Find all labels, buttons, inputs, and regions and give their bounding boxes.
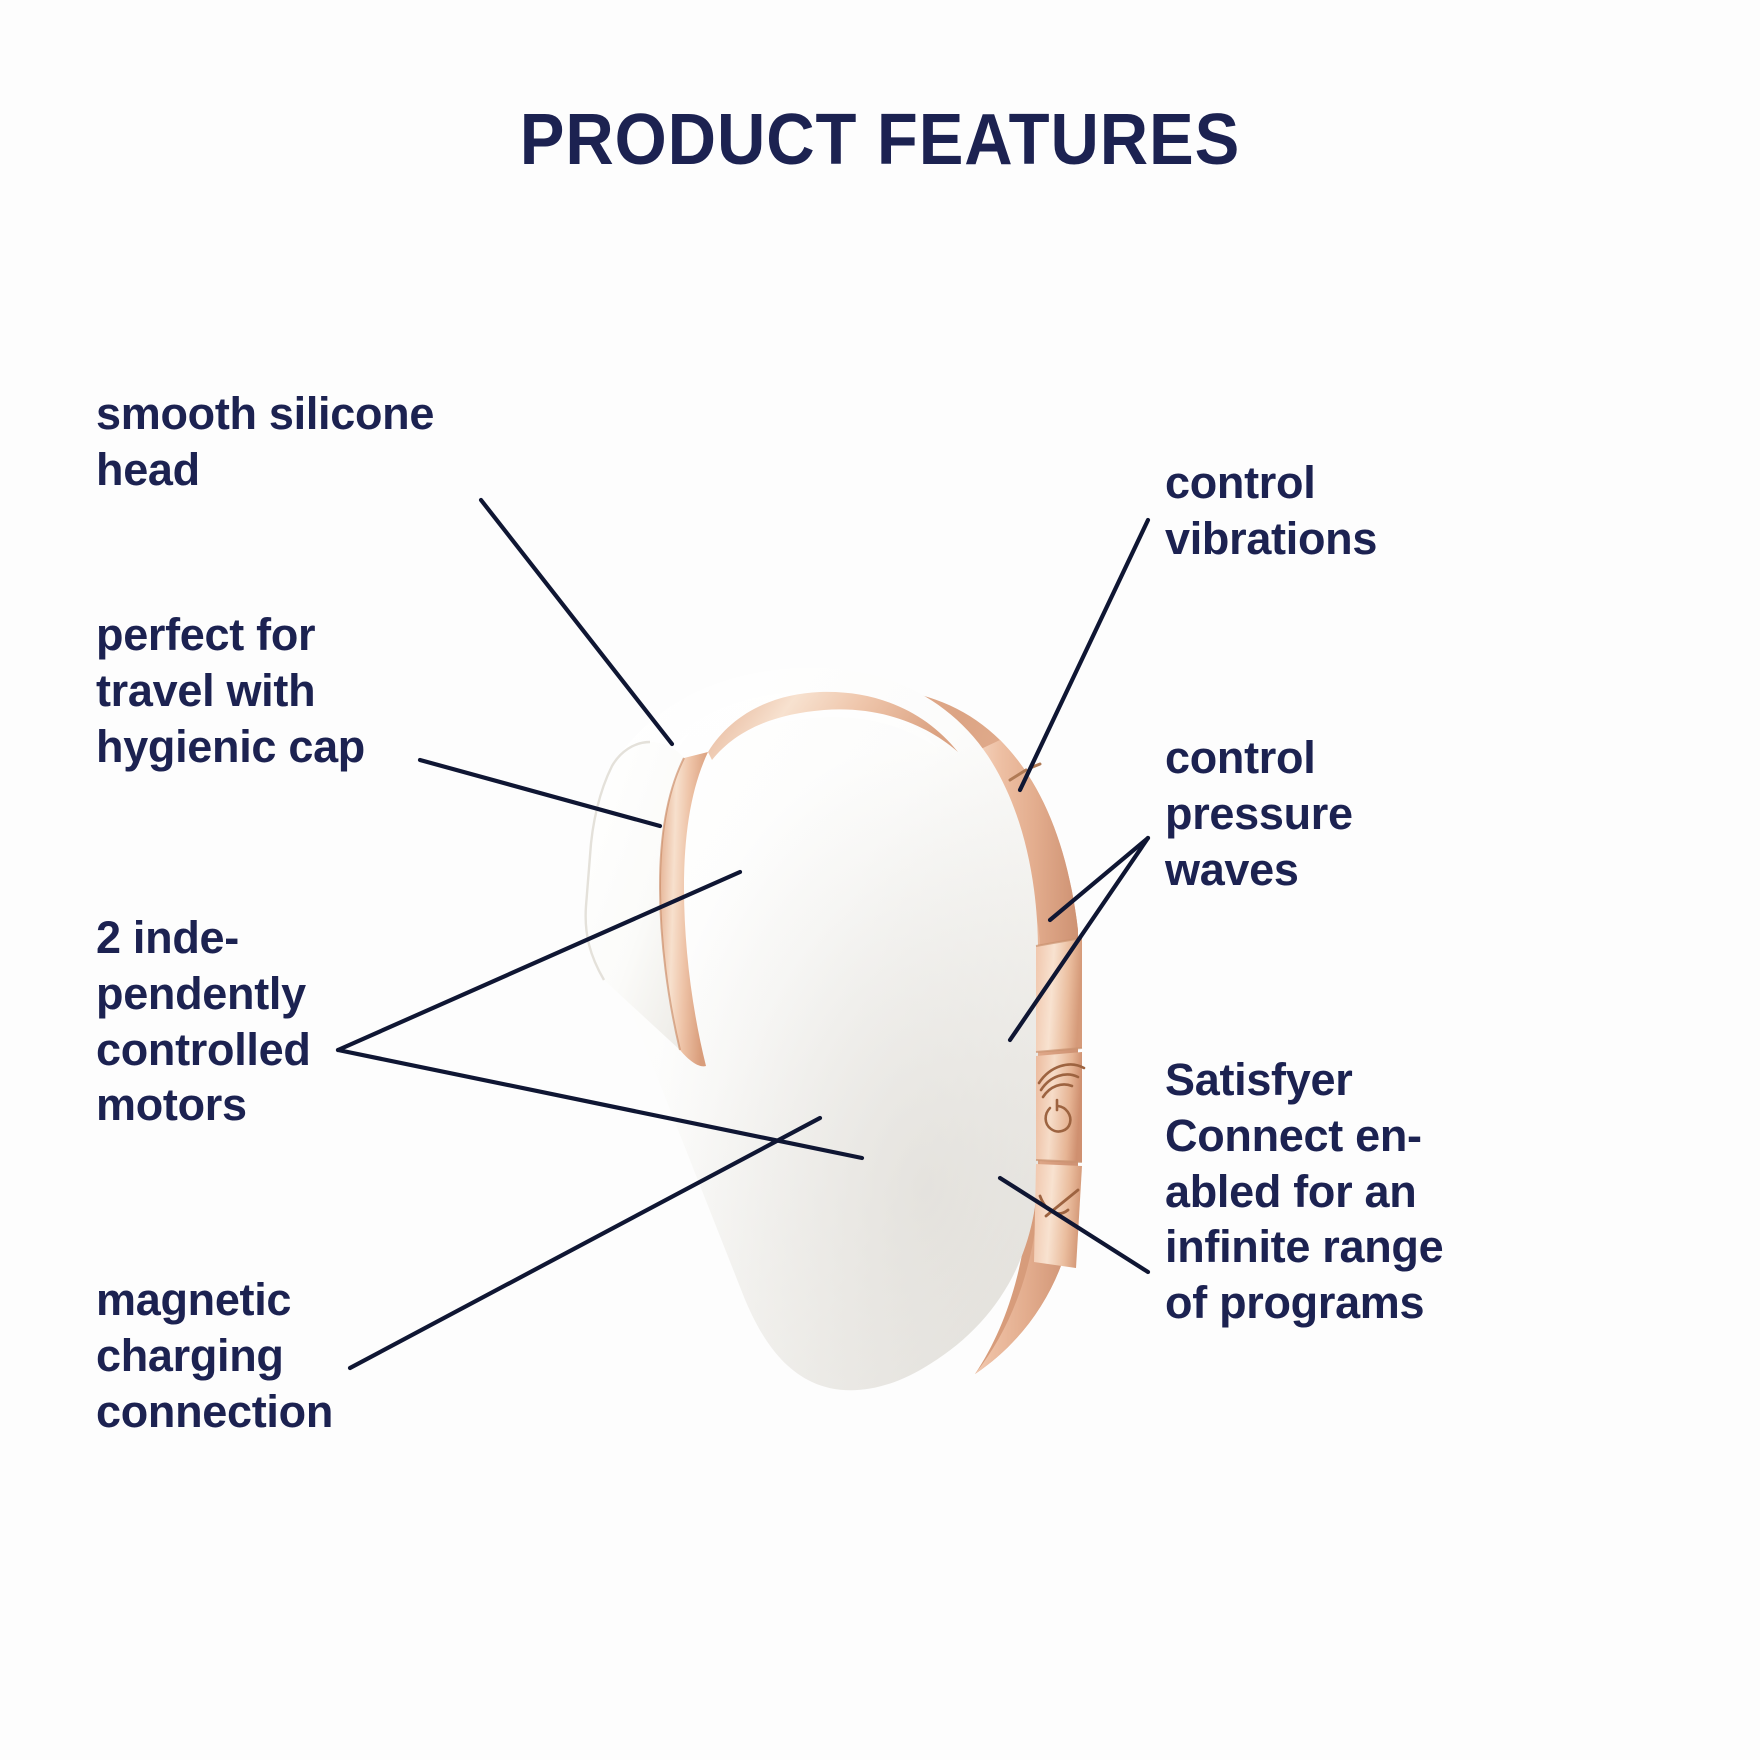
leader-motors-upper (338, 872, 740, 1050)
leader-smooth-head (481, 500, 672, 744)
leader-motors-lower (338, 1050, 862, 1158)
leader-travel-cap (420, 760, 660, 826)
leader-lines (0, 0, 1760, 1760)
leader-connect (1000, 1178, 1148, 1272)
leader-vibrations (1020, 520, 1148, 790)
leader-pressure-upper (1010, 838, 1148, 1040)
leader-charging (350, 1118, 820, 1368)
product-features-infographic: PRODUCT FEATURES (0, 0, 1760, 1760)
